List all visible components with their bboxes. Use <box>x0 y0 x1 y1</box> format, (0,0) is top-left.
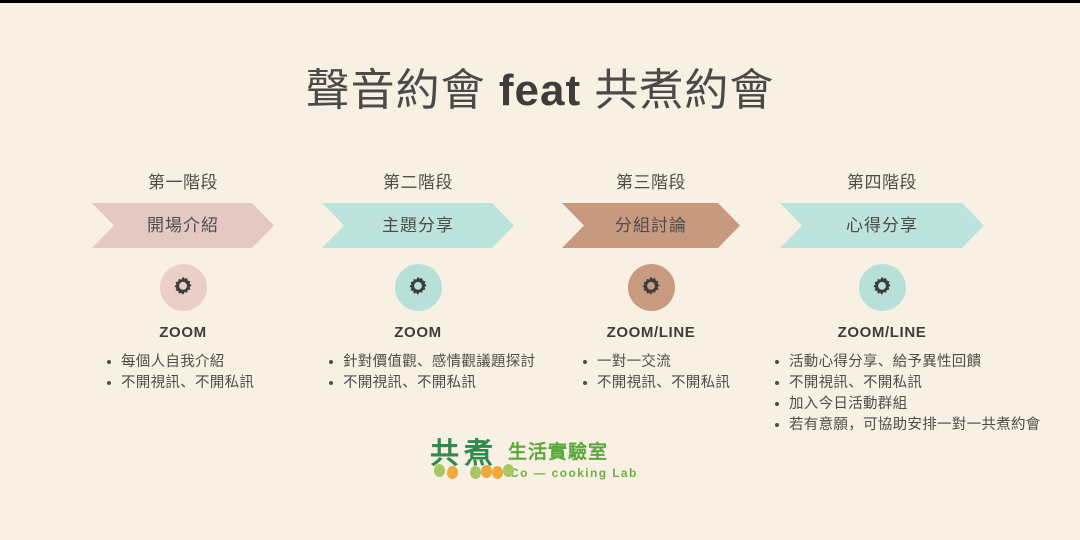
list-item: 不開視訊、不開私訊 <box>580 373 740 394</box>
stage-label-3: 第三階段 <box>562 172 740 194</box>
stage-column-3: 第三階段 分組討論 ZOOM/LINE 一對一交流 不開視訊、不開私訊 <box>562 172 740 394</box>
stage-bullets-3: 一對一交流 不開視訊、不開私訊 <box>580 352 740 394</box>
list-item: 不開視訊、不開私訊 <box>104 373 274 394</box>
stage-label-4: 第四階段 <box>780 172 984 194</box>
logo-brand-sub: 生活實驗室 <box>508 441 608 463</box>
bean-decor-icon <box>447 466 458 479</box>
gear-icon <box>869 275 895 301</box>
top-black-bar <box>0 0 1080 3</box>
stage-platform-1: ZOOM <box>92 324 274 341</box>
stage-chevron-1[interactable]: 開場介紹 <box>92 203 274 248</box>
stage-column-1: 第一階段 開場介紹 ZOOM 每個人自我介紹 不開視訊、不開私訊 <box>92 172 274 394</box>
stage-platform-4: ZOOM/LINE <box>780 324 984 341</box>
list-item: 一對一交流 <box>580 352 740 373</box>
bean-decor-icon <box>503 464 514 477</box>
stage-column-2: 第二階段 主題分享 ZOOM 針對價值觀、感情觀議題探討 不開視訊、不開私訊 <box>322 172 514 394</box>
gear-icon <box>638 275 664 301</box>
bean-decor-icon <box>492 466 503 479</box>
stage-chevron-2[interactable]: 主題分享 <box>322 203 514 248</box>
list-item: 加入今日活動群組 <box>772 394 984 415</box>
gear-icon <box>405 275 431 301</box>
bean-decor-icon <box>434 464 445 477</box>
page-title-part1: 聲音約會 <box>306 66 499 115</box>
list-item: 每個人自我介紹 <box>104 352 274 373</box>
stage-chevron-3[interactable]: 分組討論 <box>562 203 740 248</box>
stage-chevron-4[interactable]: 心得分享 <box>780 203 984 248</box>
bean-decor-icon <box>470 466 481 479</box>
bean-decor-icon <box>481 465 492 478</box>
stage-label-1: 第一階段 <box>92 172 274 194</box>
brand-logo: 共煮 生活實驗室 Co — cooking Lab <box>430 437 620 493</box>
list-item: 不開視訊、不開私訊 <box>772 373 984 394</box>
stage-bullets-2: 針對價值觀、感情觀議題探討 不開視訊、不開私訊 <box>326 352 514 394</box>
stage-label-2: 第二階段 <box>322 172 514 194</box>
logo-brand-en: Co — cooking Lab <box>510 466 638 480</box>
stage-bullets-4: 活動心得分享、給予異性回饋 不開視訊、不開私訊 加入今日活動群組 若有意願，可協… <box>772 352 984 436</box>
stage-icon-circle-1 <box>160 264 207 311</box>
list-item: 活動心得分享、給予異性回饋 <box>772 352 984 373</box>
stage-platform-2: ZOOM <box>322 324 514 341</box>
stage-icon-circle-2 <box>395 264 442 311</box>
page-title-part2: 共煮約會 <box>581 66 774 115</box>
page-title-accent: feat <box>499 66 581 115</box>
stage-icon-circle-3 <box>628 264 675 311</box>
stage-bullets-1: 每個人自我介紹 不開視訊、不開私訊 <box>104 352 274 394</box>
page-title: 聲音約會 feat 共煮約會 <box>0 64 1080 118</box>
list-item: 針對價值觀、感情觀議題探討 <box>326 352 514 373</box>
stage-platform-3: ZOOM/LINE <box>562 324 740 341</box>
list-item: 若有意願，可協助安排一對一共煮約會 <box>772 415 984 436</box>
list-item: 不開視訊、不開私訊 <box>326 373 514 394</box>
slide-canvas: 聲音約會 feat 共煮約會 第一階段 開場介紹 ZOOM 每個人自我介紹 不開… <box>0 0 1080 540</box>
stage-column-4: 第四階段 心得分享 ZOOM/LINE 活動心得分享、給予異性回饋 不開視訊、不… <box>780 172 984 436</box>
stage-icon-circle-4 <box>859 264 906 311</box>
gear-icon <box>170 275 196 301</box>
